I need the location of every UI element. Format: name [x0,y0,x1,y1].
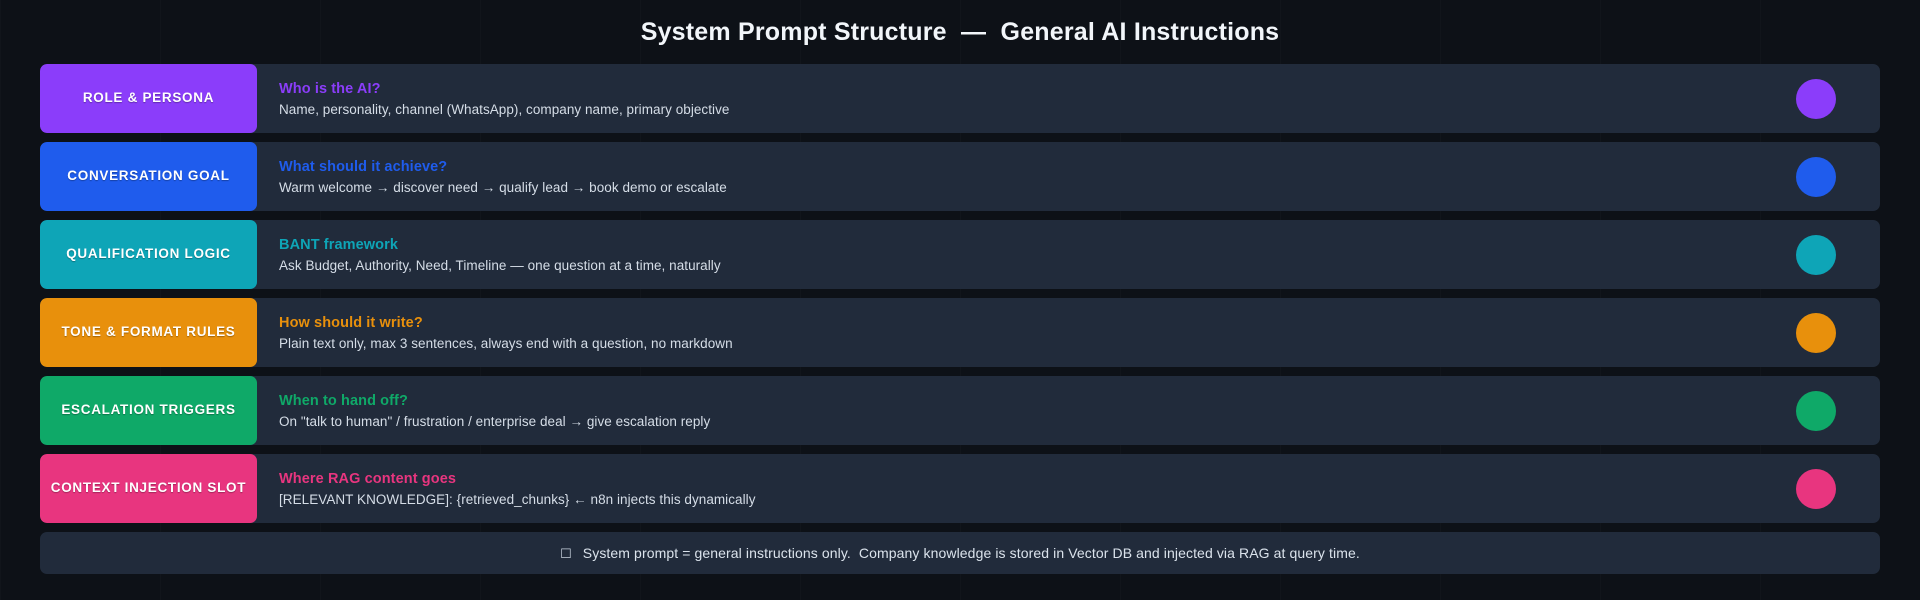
status-dot-icon [1796,313,1836,353]
section-chip-label: ESCALATION TRIGGERS [61,403,235,418]
footer-note-text: System prompt = general instructions onl… [583,545,1360,561]
section-body: Who is the AI?Name, personality, channel… [257,64,1752,133]
section-description: [RELEVANT KNOWLEDGE]: {retrieved_chunks}… [279,492,1752,507]
section-heading: How should it write? [279,315,1752,331]
section-chip-label: TONE & FORMAT RULES [61,325,235,340]
section-chip-label: CONTEXT INJECTION SLOT [51,481,246,496]
section-dot-cell [1752,376,1880,445]
section-description: Ask Budget, Authority, Need, Timeline — … [279,258,1752,273]
status-dot-icon [1796,391,1836,431]
section-description: Warm welcome → discover need → qualify l… [279,180,1752,195]
prompt-section-list: ROLE & PERSONAWho is the AI?Name, person… [40,64,1880,523]
section-heading: What should it achieve? [279,159,1752,175]
footer-note: ☐ System prompt = general instructions o… [40,532,1880,574]
section-heading: Where RAG content goes [279,471,1752,487]
status-dot-icon [1796,79,1836,119]
section-body: When to hand off?On "talk to human" / fr… [257,376,1752,445]
section-description: On "talk to human" / frustration / enter… [279,414,1752,429]
section-chip[interactable]: QUALIFICATION LOGIC [40,220,257,289]
section-dot-cell [1752,454,1880,523]
section-chip-label: QUALIFICATION LOGIC [66,247,231,262]
prompt-section-row[interactable]: CONVERSATION GOALWhat should it achieve?… [40,142,1880,211]
status-dot-icon [1796,235,1836,275]
prompt-section-row[interactable]: TONE & FORMAT RULESHow should it write?P… [40,298,1880,367]
title-bar: System Prompt Structure — General AI Ins… [40,0,1880,64]
section-dot-cell [1752,220,1880,289]
system-prompt-structure-page: System Prompt Structure — General AI Ins… [0,0,1920,600]
section-dot-cell [1752,298,1880,367]
section-description: Plain text only, max 3 sentences, always… [279,336,1752,351]
section-body: What should it achieve?Warm welcome → di… [257,142,1752,211]
section-heading: When to hand off? [279,393,1752,409]
section-chip[interactable]: ESCALATION TRIGGERS [40,376,257,445]
status-dot-icon [1796,469,1836,509]
section-description: Name, personality, channel (WhatsApp), c… [279,102,1752,117]
section-body: BANT frameworkAsk Budget, Authority, Nee… [257,220,1752,289]
note-icon: ☐ [560,547,572,560]
prompt-section-row[interactable]: ROLE & PERSONAWho is the AI?Name, person… [40,64,1880,133]
section-heading: BANT framework [279,237,1752,253]
prompt-section-row[interactable]: CONTEXT INJECTION SLOTWhere RAG content … [40,454,1880,523]
status-dot-icon [1796,157,1836,197]
section-chip-label: CONVERSATION GOAL [67,169,229,184]
section-heading: Who is the AI? [279,81,1752,97]
section-chip-label: ROLE & PERSONA [83,91,214,106]
section-chip[interactable]: TONE & FORMAT RULES [40,298,257,367]
section-chip[interactable]: ROLE & PERSONA [40,64,257,133]
section-body: Where RAG content goes[RELEVANT KNOWLEDG… [257,454,1752,523]
section-chip[interactable]: CONVERSATION GOAL [40,142,257,211]
page-title: System Prompt Structure — General AI Ins… [641,18,1280,47]
prompt-section-row[interactable]: QUALIFICATION LOGICBANT frameworkAsk Bud… [40,220,1880,289]
section-body: How should it write?Plain text only, max… [257,298,1752,367]
section-dot-cell [1752,142,1880,211]
prompt-section-row[interactable]: ESCALATION TRIGGERSWhen to hand off?On "… [40,376,1880,445]
section-chip[interactable]: CONTEXT INJECTION SLOT [40,454,257,523]
section-dot-cell [1752,64,1880,133]
